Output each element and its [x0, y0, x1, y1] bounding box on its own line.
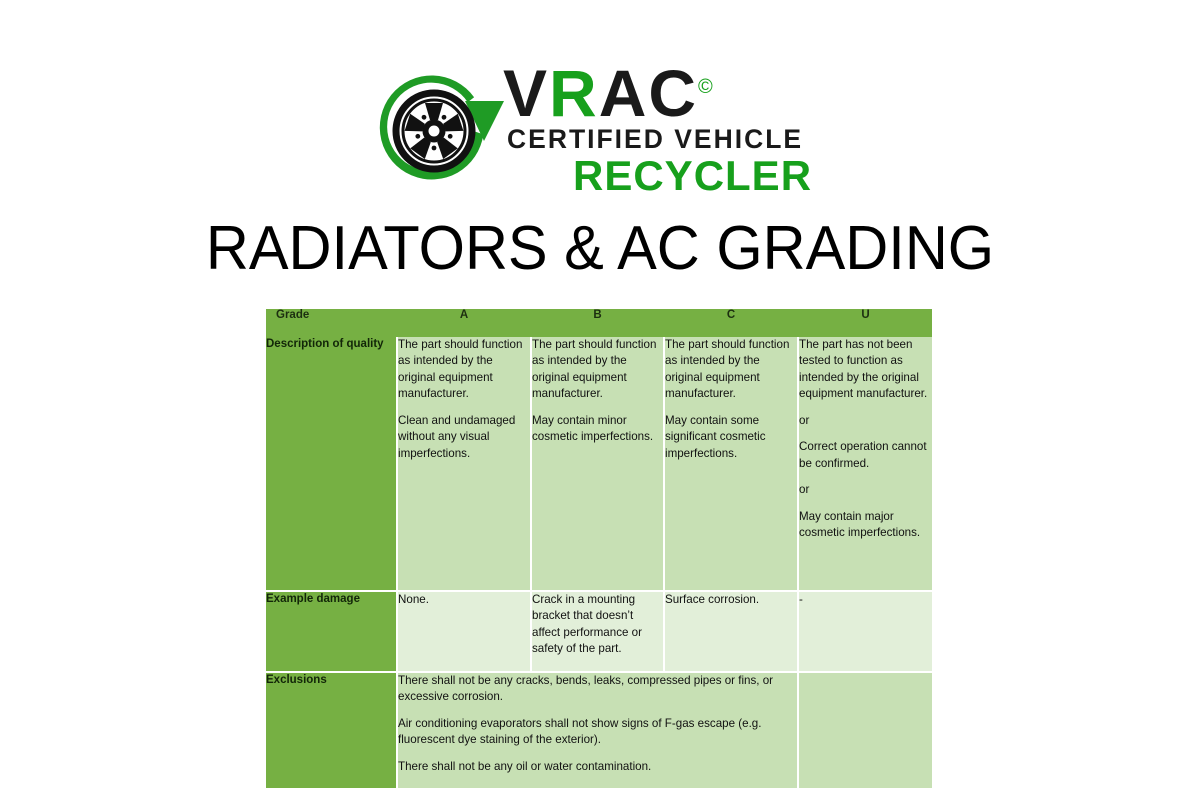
cell-paragraph: Correct operation cannot be confirmed. [799, 439, 932, 472]
table-row-exclusions: Exclusions There shall not be any cracks… [266, 673, 932, 790]
table-header-row: Grade A B C U [266, 309, 932, 337]
logo-letters-ac: AC [599, 56, 698, 130]
cell-paragraph: The part has not been tested to function… [799, 337, 932, 403]
header-grade-label: Grade [266, 309, 398, 337]
cell-paragraph: or [799, 482, 932, 498]
cell-paragraph: Crack in a mounting bracket that doesn’t… [532, 592, 663, 658]
cell-paragraph: The part should function as intended by … [665, 337, 797, 403]
grading-table: Grade A B C U Description of quality The… [266, 309, 932, 790]
logo-letter-r: R [549, 56, 599, 130]
row-label-exclusions: Exclusions [266, 673, 398, 790]
cell-paragraph: Clean and undamaged without any visual i… [398, 413, 530, 462]
cell-example-damage-a: None. [398, 592, 532, 673]
logo-tagline: CERTIFIED VEHICLE [507, 124, 803, 155]
cell-paragraph: None. [398, 592, 530, 608]
recycling-wheel-icon [370, 63, 510, 193]
cell-paragraph: May contain major cosmetic imperfections… [799, 509, 932, 542]
logo-letter-v: V [503, 56, 549, 130]
row-label-example-damage: Example damage [266, 592, 398, 673]
logo-wordmark: VRAC© CERTIFIED VEHICLE RECYCLER [503, 58, 843, 198]
cell-paragraph: or [799, 413, 932, 429]
cell-description-b: The part should function as intended by … [532, 337, 665, 592]
cell-description-c: The part should function as intended by … [665, 337, 799, 592]
cell-paragraph: There shall not be any oil or water cont… [398, 759, 797, 775]
cell-paragraph: The part should function as intended by … [532, 337, 663, 403]
cell-description-u: The part has not been tested to function… [799, 337, 932, 592]
page-title: RADIATORS & AC GRADING [24, 218, 1176, 280]
header-grade-c: C [665, 309, 799, 337]
cell-description-a: The part should function as intended by … [398, 337, 532, 592]
cell-exclusions-merged: There shall not be any cracks, bends, le… [398, 673, 799, 790]
cell-paragraph: Surface corrosion. [665, 592, 797, 608]
cell-example-damage-u: - [799, 592, 932, 673]
vrac-logo: VRAC© CERTIFIED VEHICLE RECYCLER [370, 58, 840, 198]
cell-paragraph: Air conditioning evaporators shall not s… [398, 716, 797, 749]
cell-exclusions-u [799, 673, 932, 790]
cell-paragraph: - [799, 592, 932, 608]
cell-paragraph: The part should function as intended by … [398, 337, 530, 403]
cell-paragraph: May contain some significant cosmetic im… [665, 413, 797, 462]
logo-subtitle: RECYCLER [573, 152, 812, 200]
row-label-description-of-quality: Description of quality [266, 337, 398, 592]
header-grade-u: U [799, 309, 932, 337]
copyright-icon: © [698, 76, 713, 98]
cell-paragraph: There shall not be any cracks, bends, le… [398, 673, 797, 706]
header-grade-b: B [532, 309, 665, 337]
cell-paragraph: May contain minor cosmetic imperfections… [532, 413, 663, 446]
logo-vrac-text: VRAC© [503, 60, 713, 126]
table-row-description-of-quality: Description of quality The part should f… [266, 337, 932, 592]
cell-example-damage-c: Surface corrosion. [665, 592, 799, 673]
table-row-example-damage: Example damage None. Crack in a mounting… [266, 592, 932, 673]
cell-example-damage-b: Crack in a mounting bracket that doesn’t… [532, 592, 665, 673]
header-grade-a: A [398, 309, 532, 337]
